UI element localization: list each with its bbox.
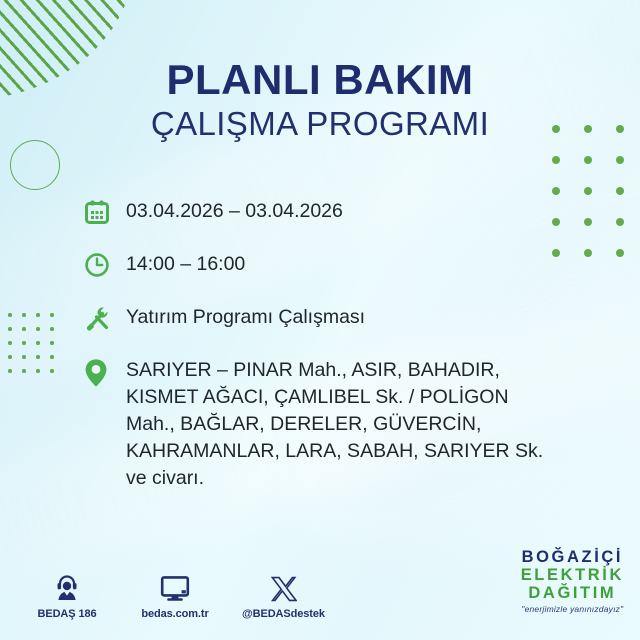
contact-website-label: bedas.com.tr xyxy=(134,608,216,620)
detail-row-worktype: Yatırım Programı Çalışması xyxy=(84,304,584,343)
dot-grid-left-decoration xyxy=(8,313,64,383)
dot xyxy=(22,327,26,331)
contact-links: BEDAŞ 186 bedas.com.tr xyxy=(26,571,324,620)
dot xyxy=(22,341,26,345)
tools-icon xyxy=(84,304,126,343)
planned-maintenance-poster: PLANLI BAKIM ÇALIŞMA PROGRAMI 03.04.2026… xyxy=(0,0,640,640)
dot xyxy=(50,327,54,331)
contact-phone-label: BEDAŞ 186 xyxy=(26,608,108,620)
dot xyxy=(584,156,592,164)
dot xyxy=(22,313,26,317)
contact-phone[interactable]: BEDAŞ 186 xyxy=(26,571,108,620)
dot xyxy=(50,355,54,359)
detail-row-date: 03.04.2026 – 03.04.2026 xyxy=(84,198,584,237)
dot xyxy=(8,313,12,317)
dot xyxy=(584,187,592,195)
detail-row-address: SARIYER – PINAR Mah., ASIR, BAHADIR, KIS… xyxy=(84,357,584,492)
calendar-icon xyxy=(84,198,126,237)
dot xyxy=(36,369,40,373)
location-pin-icon xyxy=(84,357,126,396)
page-subtitle: ÇALIŞMA PROGRAMI xyxy=(0,106,640,142)
dot xyxy=(50,313,54,317)
dot xyxy=(616,187,624,195)
dot xyxy=(8,369,12,373)
poster-footer: BEDAŞ 186 bedas.com.tr xyxy=(0,548,640,628)
dot xyxy=(616,156,624,164)
detail-address-text: SARIYER – PINAR Mah., ASIR, BAHADIR, KIS… xyxy=(126,357,546,492)
dot xyxy=(36,355,40,359)
dot xyxy=(22,369,26,373)
brand-line-dagitim: DAĞITIM xyxy=(521,585,624,603)
dot xyxy=(616,218,624,226)
dot xyxy=(36,341,40,345)
contact-website[interactable]: bedas.com.tr xyxy=(134,571,216,620)
dot xyxy=(36,313,40,317)
dot xyxy=(50,369,54,373)
contact-x-account[interactable]: @BEDASdestek xyxy=(242,571,324,620)
dot xyxy=(616,249,624,257)
detail-worktype-text: Yatırım Programı Çalışması xyxy=(126,304,365,331)
dot xyxy=(584,218,592,226)
dot xyxy=(584,249,592,257)
dot xyxy=(8,327,12,331)
circle-outline-decoration xyxy=(10,140,60,190)
company-logo: BOĞAZİÇİ ELEKTRİK DAĞITIM "enerjimizle y… xyxy=(521,549,624,614)
dot xyxy=(50,341,54,345)
clock-icon xyxy=(84,251,126,290)
contact-x-label: @BEDASdestek xyxy=(242,608,324,620)
brand-tagline: "enerjimizle yanınızdayız" xyxy=(521,605,624,614)
detail-row-time: 14:00 – 16:00 xyxy=(84,251,584,290)
detail-date-text: 03.04.2026 – 03.04.2026 xyxy=(126,198,343,225)
dot xyxy=(22,355,26,359)
dot xyxy=(552,156,560,164)
maintenance-details: 03.04.2026 – 03.04.2026 14:00 – 16:00 xyxy=(84,198,584,506)
page-title: PLANLI BAKIM xyxy=(0,58,640,102)
brand-line-bogazici: BOĞAZİÇİ xyxy=(521,549,624,567)
dot xyxy=(552,187,560,195)
dot xyxy=(8,355,12,359)
monitor-icon xyxy=(134,571,216,603)
brand-line-elektrik: ELEKTRİK xyxy=(521,567,624,585)
support-agent-icon xyxy=(26,571,108,603)
poster-header: PLANLI BAKIM ÇALIŞMA PROGRAMI xyxy=(0,58,640,142)
x-logo-icon xyxy=(242,571,324,603)
dot xyxy=(8,341,12,345)
detail-time-text: 14:00 – 16:00 xyxy=(126,251,245,278)
dot xyxy=(36,327,40,331)
